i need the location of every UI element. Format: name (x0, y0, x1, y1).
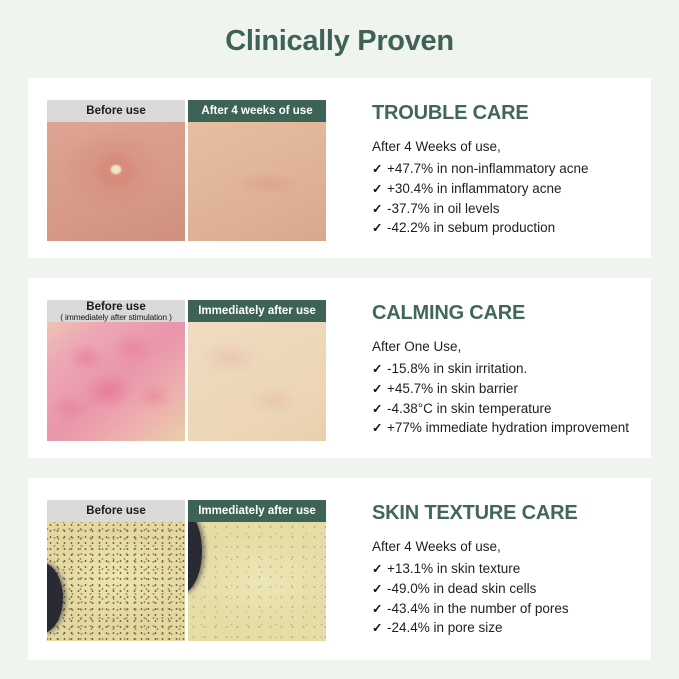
claim-text: -37.7% in oil levels (387, 199, 500, 219)
claim-text: -24.4% in pore size (387, 618, 503, 638)
section-card-skin-texture-care: Before use Immediately after use SKIN TE… (28, 478, 651, 660)
claim-item: ✓ -37.7% in oil levels (372, 199, 672, 219)
before-after-comparison-texture: Before use Immediately after use (47, 500, 327, 641)
claim-item: ✓ -49.0% in dead skin cells (372, 579, 672, 599)
claim-item: ✓ -42.2% in sebum production (372, 218, 672, 238)
check-icon: ✓ (372, 400, 387, 418)
claim-item: ✓ -43.4% in the number of pores (372, 599, 672, 619)
after-photo-refined-pores (188, 522, 326, 641)
claim-item: ✓ -4.38°C in skin temperature (372, 399, 672, 419)
before-label-text: Before use (86, 505, 145, 517)
before-pane-texture: Before use (47, 500, 185, 641)
after-pane-trouble: After 4 weeks of use (188, 100, 326, 241)
text-column-calming-care: CALMING CARE After One Use, ✓ -15.8% in … (372, 302, 672, 438)
check-icon: ✓ (372, 200, 387, 218)
check-icon: ✓ (372, 219, 387, 237)
check-icon: ✓ (372, 180, 387, 198)
claim-item: ✓ +45.7% in skin barrier (372, 379, 672, 399)
after-label-calming: Immediately after use (188, 300, 326, 322)
before-label-text: Before use (86, 105, 145, 117)
check-icon: ✓ (372, 419, 387, 437)
before-pane-trouble: Before use (47, 100, 185, 241)
before-label-texture: Before use (47, 500, 185, 522)
section-intro-trouble-care: After 4 Weeks of use, (372, 138, 672, 156)
text-column-trouble-care: TROUBLE CARE After 4 Weeks of use, ✓ +47… (372, 102, 672, 238)
section-heading-skin-texture-care: SKIN TEXTURE CARE (372, 502, 672, 524)
check-icon: ✓ (372, 360, 387, 378)
claim-text: +45.7% in skin barrier (387, 379, 518, 399)
before-after-comparison-calming: Before use ( immediately after stimulati… (47, 300, 327, 441)
claim-text: -43.4% in the number of pores (387, 599, 569, 619)
before-photo-irritated-skin (47, 322, 185, 441)
before-label-trouble: Before use (47, 100, 185, 122)
section-card-calming-care: Before use ( immediately after stimulati… (28, 278, 651, 458)
check-icon: ✓ (372, 560, 387, 578)
after-label-text: After 4 weeks of use (201, 105, 312, 117)
after-photo-clear-skin (188, 122, 326, 241)
before-photo-acne (47, 122, 185, 241)
claim-item: ✓ +77% immediate hydration improvement (372, 418, 672, 438)
before-photo-pores (47, 522, 185, 641)
after-label-text: Immediately after use (198, 505, 316, 517)
claim-text: -4.38°C in skin temperature (387, 399, 551, 419)
before-after-comparison-trouble: Before use After 4 weeks of use (47, 100, 327, 241)
section-heading-trouble-care: TROUBLE CARE (372, 102, 672, 124)
section-intro-skin-texture-care: After 4 Weeks of use, (372, 538, 672, 556)
section-intro-calming-care: After One Use, (372, 338, 672, 356)
claim-text: -15.8% in skin irritation. (387, 359, 527, 379)
check-icon: ✓ (372, 619, 387, 637)
after-pane-calming: Immediately after use (188, 300, 326, 441)
before-label-sublabel: ( immediately after stimulation ) (60, 313, 172, 322)
section-card-trouble-care: Before use After 4 weeks of use TROUBLE … (28, 78, 651, 258)
after-pane-texture: Immediately after use (188, 500, 326, 641)
check-icon: ✓ (372, 160, 387, 178)
pore-texture-overlay (47, 522, 185, 641)
pore-texture-overlay (188, 522, 326, 641)
section-heading-calming-care: CALMING CARE (372, 302, 672, 324)
claims-list-trouble-care: ✓ +47.7% in non-inflammatory acne ✓ +30.… (372, 159, 672, 238)
claim-text: -42.2% in sebum production (387, 218, 555, 238)
check-icon: ✓ (372, 600, 387, 618)
claim-item: ✓ +13.1% in skin texture (372, 559, 672, 579)
claim-text: +30.4% in inflammatory acne (387, 179, 561, 199)
claim-item: ✓ -24.4% in pore size (372, 618, 672, 638)
claim-text: +77% immediate hydration improvement (387, 418, 629, 438)
claim-item: ✓ -15.8% in skin irritation. (372, 359, 672, 379)
after-photo-calmed-skin (188, 322, 326, 441)
claim-text: +47.7% in non-inflammatory acne (387, 159, 589, 179)
page-title: Clinically Proven (0, 0, 679, 58)
check-icon: ✓ (372, 580, 387, 598)
check-icon: ✓ (372, 380, 387, 398)
claim-item: ✓ +47.7% in non-inflammatory acne (372, 159, 672, 179)
claims-list-calming-care: ✓ -15.8% in skin irritation. ✓ +45.7% in… (372, 359, 672, 438)
claim-text: +13.1% in skin texture (387, 559, 520, 579)
after-label-trouble: After 4 weeks of use (188, 100, 326, 122)
before-label-calming: Before use ( immediately after stimulati… (47, 300, 185, 322)
claim-text: -49.0% in dead skin cells (387, 579, 536, 599)
before-pane-calming: Before use ( immediately after stimulati… (47, 300, 185, 441)
after-label-text: Immediately after use (198, 305, 316, 317)
after-label-texture: Immediately after use (188, 500, 326, 522)
claims-list-skin-texture-care: ✓ +13.1% in skin texture ✓ -49.0% in dea… (372, 559, 672, 638)
text-column-skin-texture-care: SKIN TEXTURE CARE After 4 Weeks of use, … (372, 502, 672, 638)
claim-item: ✓ +30.4% in inflammatory acne (372, 179, 672, 199)
